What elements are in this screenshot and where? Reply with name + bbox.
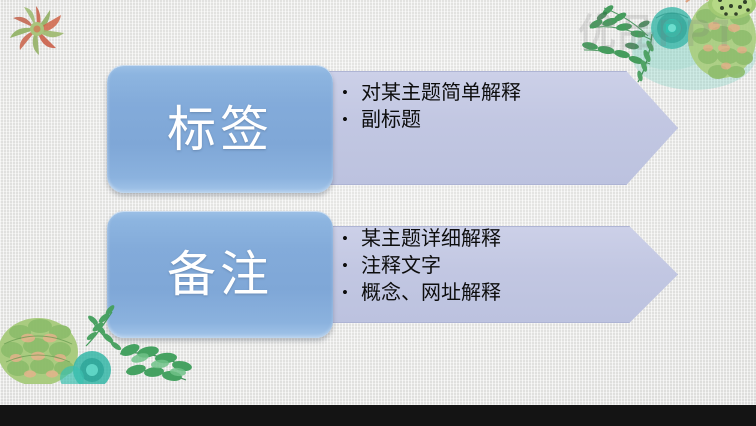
bullet-list-1: 对某主题简单解释 副标题 bbox=[340, 80, 521, 134]
list-item: 某主题详细解释 bbox=[340, 226, 501, 253]
list-item: 副标题 bbox=[340, 107, 521, 134]
slide-viewport: 优品PPT 对某主题简单解释 副标题 某主题详细解释 注释文字 概念、网址解释 … bbox=[0, 0, 756, 426]
list-item: 对某主题简单解释 bbox=[340, 80, 521, 107]
succulent-rosette-top-left-icon bbox=[6, 2, 68, 58]
bullet-list-2: 某主题详细解释 注释文字 概念、网址解释 bbox=[340, 226, 501, 307]
label-box-note-text: 备注 bbox=[167, 250, 273, 299]
letterbox-bottom bbox=[0, 405, 756, 426]
slide-canvas: 优品PPT 对某主题简单解释 副标题 某主题详细解释 注释文字 概念、网址解释 … bbox=[0, 0, 756, 405]
label-box-note[interactable]: 备注 bbox=[107, 211, 333, 338]
list-item: 注释文字 bbox=[340, 253, 501, 280]
list-item: 概念、网址解释 bbox=[340, 280, 501, 307]
label-box-tag[interactable]: 标签 bbox=[107, 65, 333, 193]
label-box-tag-text: 标签 bbox=[167, 105, 273, 154]
watermark: 优品PPT bbox=[578, 8, 728, 60]
